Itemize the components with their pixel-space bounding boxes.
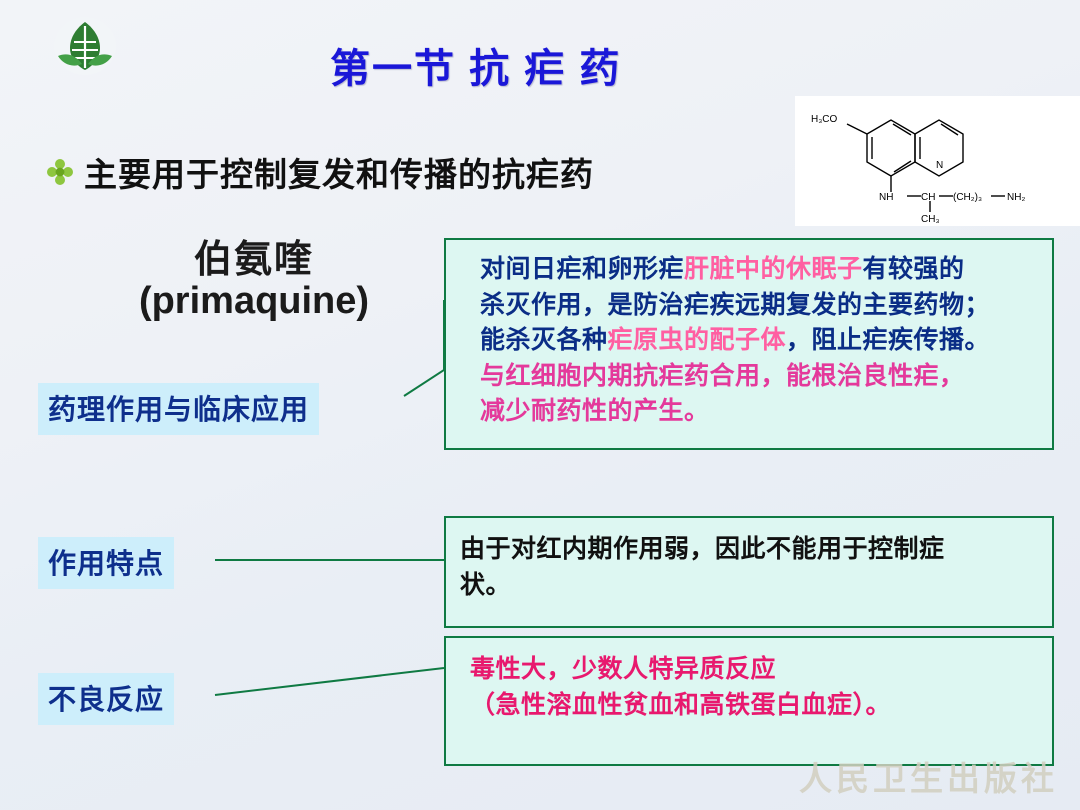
content-box-adverse: 毒性大，少数人特异质反应（急性溶血性贫血和高铁蛋白血症）。 xyxy=(444,636,1054,766)
chem-label-nh2: NH₂ xyxy=(1007,192,1025,203)
label-adverse-reactions: 不良反应 xyxy=(38,673,174,725)
section-bullet-row: 主要用于控制复发和传播的抗疟药 xyxy=(46,148,594,196)
chem-label-ch3: CH₃ xyxy=(921,214,940,225)
chem-label-nh: NH xyxy=(879,192,893,203)
adverse-text: 毒性大，少数人特异质反应（急性溶血性贫血和高铁蛋白血症）。 xyxy=(470,652,1036,723)
chemical-structure-figure: H₃CO N NH CH (CH₂)₃ NH₂ CH₃ xyxy=(795,96,1080,226)
publisher-logo-icon xyxy=(52,16,118,78)
chem-label-ring-n: N xyxy=(936,160,943,171)
content-box-pharmacology: 对间日疟和卵形疟肝脏中的休眠子有较强的杀灭作用，是防治疟疾远期复发的主要药物；能… xyxy=(444,238,1054,450)
drug-name-chinese: 伯氨喹 xyxy=(84,240,424,281)
section-heading-text: 主要用于控制复发和传播的抗疟药 xyxy=(84,148,594,196)
chem-label-ch: CH xyxy=(921,192,935,203)
flower-bullet-icon xyxy=(46,158,74,186)
label-features: 作用特点 xyxy=(38,537,174,589)
drug-name-english: (primaquine) xyxy=(84,281,424,322)
features-text: 由于对红内期作用弱，因此不能用于控制症状。 xyxy=(460,532,1036,603)
pharmacology-text: 对间日疟和卵形疟肝脏中的休眠子有较强的杀灭作用，是防治疟疾远期复发的主要药物；能… xyxy=(480,252,1036,430)
publisher-watermark: 人民卫生出版社 xyxy=(799,752,1058,800)
chem-label-ch2: (CH₂)₃ xyxy=(953,192,982,203)
slide-canvas: 第一节 抗 疟 药 xyxy=(0,0,1080,810)
chem-label-methoxy: H₃CO xyxy=(811,114,838,125)
slide-title: 第一节 抗 疟 药 xyxy=(330,36,621,94)
drug-name-block: 伯氨喹 (primaquine) xyxy=(84,240,424,322)
content-box-features: 由于对红内期作用弱，因此不能用于控制症状。 xyxy=(444,516,1054,628)
label-pharmacology: 药理作用与临床应用 xyxy=(38,383,319,435)
